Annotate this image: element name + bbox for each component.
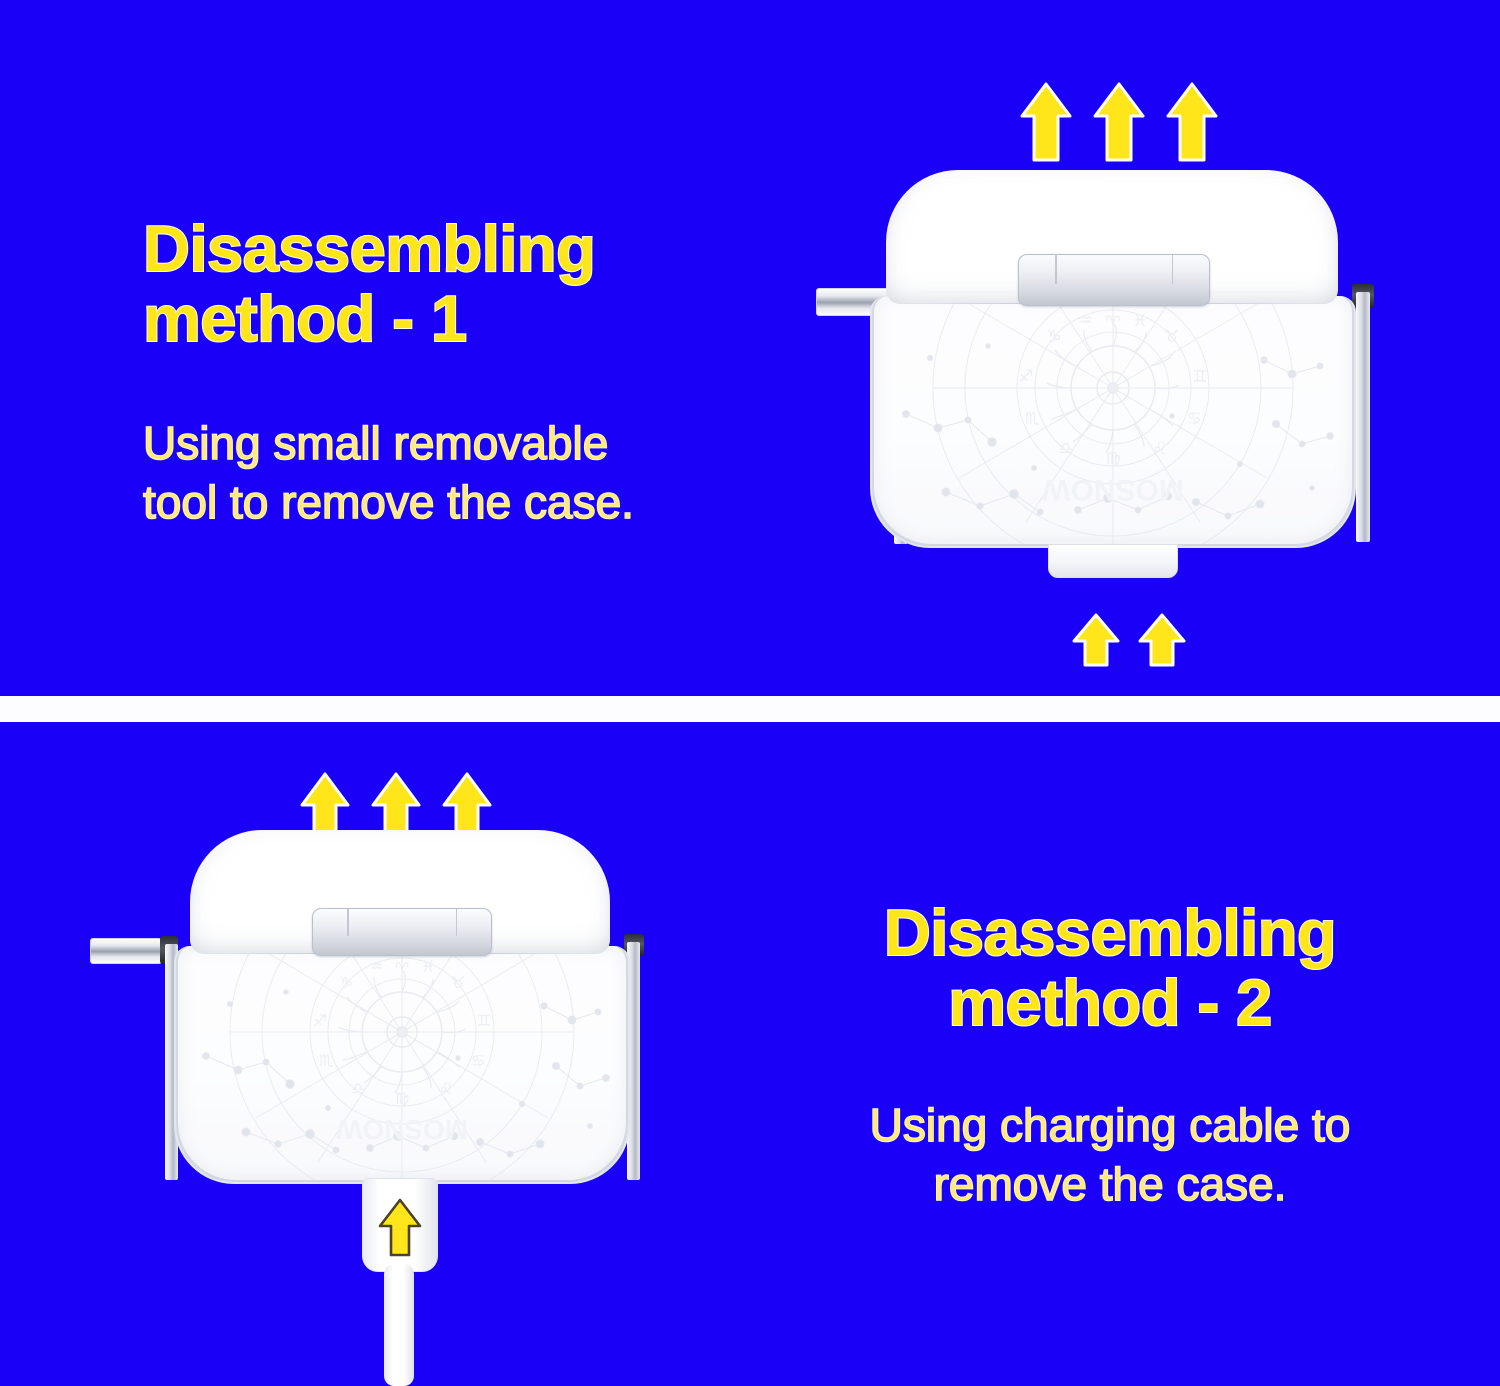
svg-text:♑: ♑ <box>339 973 353 992</box>
cable-wire <box>384 1264 414 1386</box>
method-1-subtext: Using small removable tool to remove the… <box>143 414 803 532</box>
hinge-notch-right <box>1172 255 1174 284</box>
clear-protective-cover-2: ♈ ♉ ♊ ♋ ♌ ♍ ♎ ♏ ♐ ♑ ♒ ♓ <box>174 946 630 1184</box>
svg-text:♒: ♒ <box>369 957 383 976</box>
method-1-pull-up-arrows <box>1020 82 1230 162</box>
panel-method-1: Disassembling method - 1 Using small rem… <box>0 0 1500 696</box>
hinge-notch-left <box>1055 255 1057 284</box>
lid-highlight <box>927 181 1216 235</box>
hinge-notch-left-2 <box>347 909 349 936</box>
method-2-heading: Disassembling method - 2 <box>800 898 1420 1038</box>
svg-text:♎: ♎ <box>1058 439 1073 459</box>
clear-protective-cover: ♈ ♉ ♊ ♋ ♌ ♍ ♎ ♏ ♐ ♑ ♒ ♓ <box>870 296 1356 548</box>
method-1-heading: Disassembling method - 1 <box>143 214 803 354</box>
svg-text:♓: ♓ <box>421 957 435 976</box>
svg-text:♏: ♏ <box>319 1051 333 1070</box>
svg-text:♋: ♋ <box>1186 409 1201 429</box>
svg-text:♌: ♌ <box>1152 439 1167 459</box>
panel-method-2: Disassembling method - 2 Using charging … <box>0 722 1500 1386</box>
svg-text:♐: ♐ <box>1018 367 1033 387</box>
svg-text:♊: ♊ <box>477 1011 491 1030</box>
svg-text:♍: ♍ <box>395 1089 409 1108</box>
removal-tool-shaft-right <box>1356 292 1370 542</box>
method-2-text-block: Disassembling method - 2 Using charging … <box>800 898 1420 1214</box>
svg-text:♑: ♑ <box>1046 327 1061 347</box>
svg-text:♋: ♋ <box>471 1051 485 1070</box>
charging-cable <box>354 1178 444 1386</box>
method-2-push-up-arrow-on-cable <box>378 1198 422 1258</box>
method-1-push-up-arrows <box>1072 613 1192 667</box>
svg-text:♎: ♎ <box>351 1079 365 1098</box>
svg-text:♉: ♉ <box>1164 327 1179 347</box>
method-1-text-block: Disassembling method - 1 Using small rem… <box>143 214 803 532</box>
svg-text:♒: ♒ <box>1077 311 1092 331</box>
case-bottom-nub <box>1048 544 1178 578</box>
svg-text:♌: ♌ <box>439 1079 453 1098</box>
method-2-subtext: Using charging cable to remove the case. <box>800 1096 1420 1214</box>
zodiac-constellation-pattern-2: ♈ ♉ ♊ ♋ ♌ ♍ ♎ ♏ ♐ ♑ ♒ ♓ <box>176 946 628 1182</box>
method-2-product-image: ♈ ♉ ♊ ♋ ♌ ♍ ♎ ♏ ♐ ♑ ♒ ♓ <box>160 830 640 1222</box>
svg-text:♍: ♍ <box>1105 449 1120 469</box>
svg-text:♏: ♏ <box>1024 409 1039 429</box>
removal-tool-tab-2 <box>90 938 162 964</box>
panel-divider <box>0 696 1500 722</box>
lid-highlight-2 <box>228 840 497 890</box>
hinge-notch-right-2 <box>456 909 458 936</box>
zodiac-constellation-pattern: ♈ ♉ ♊ ♋ ♌ ♍ ♎ ♏ ♐ ♑ ♒ ♓ <box>872 296 1354 546</box>
svg-text:♓: ♓ <box>1132 311 1147 331</box>
svg-text:♉: ♉ <box>451 973 465 992</box>
svg-text:MOSNOW: MOSNOW <box>335 1114 468 1145</box>
svg-text:♈: ♈ <box>395 959 409 978</box>
svg-text:♈: ♈ <box>1105 313 1120 333</box>
svg-text:♊: ♊ <box>1192 367 1207 387</box>
svg-text:MOSNOW: MOSNOW <box>1041 473 1183 506</box>
case-hinge-bar <box>1018 254 1210 306</box>
svg-text:♐: ♐ <box>313 1011 327 1030</box>
method-1-product-image: ♈ ♉ ♊ ♋ ♌ ♍ ♎ ♏ ♐ ♑ ♒ ♓ <box>852 170 1372 590</box>
case-hinge-bar-2 <box>312 908 492 956</box>
